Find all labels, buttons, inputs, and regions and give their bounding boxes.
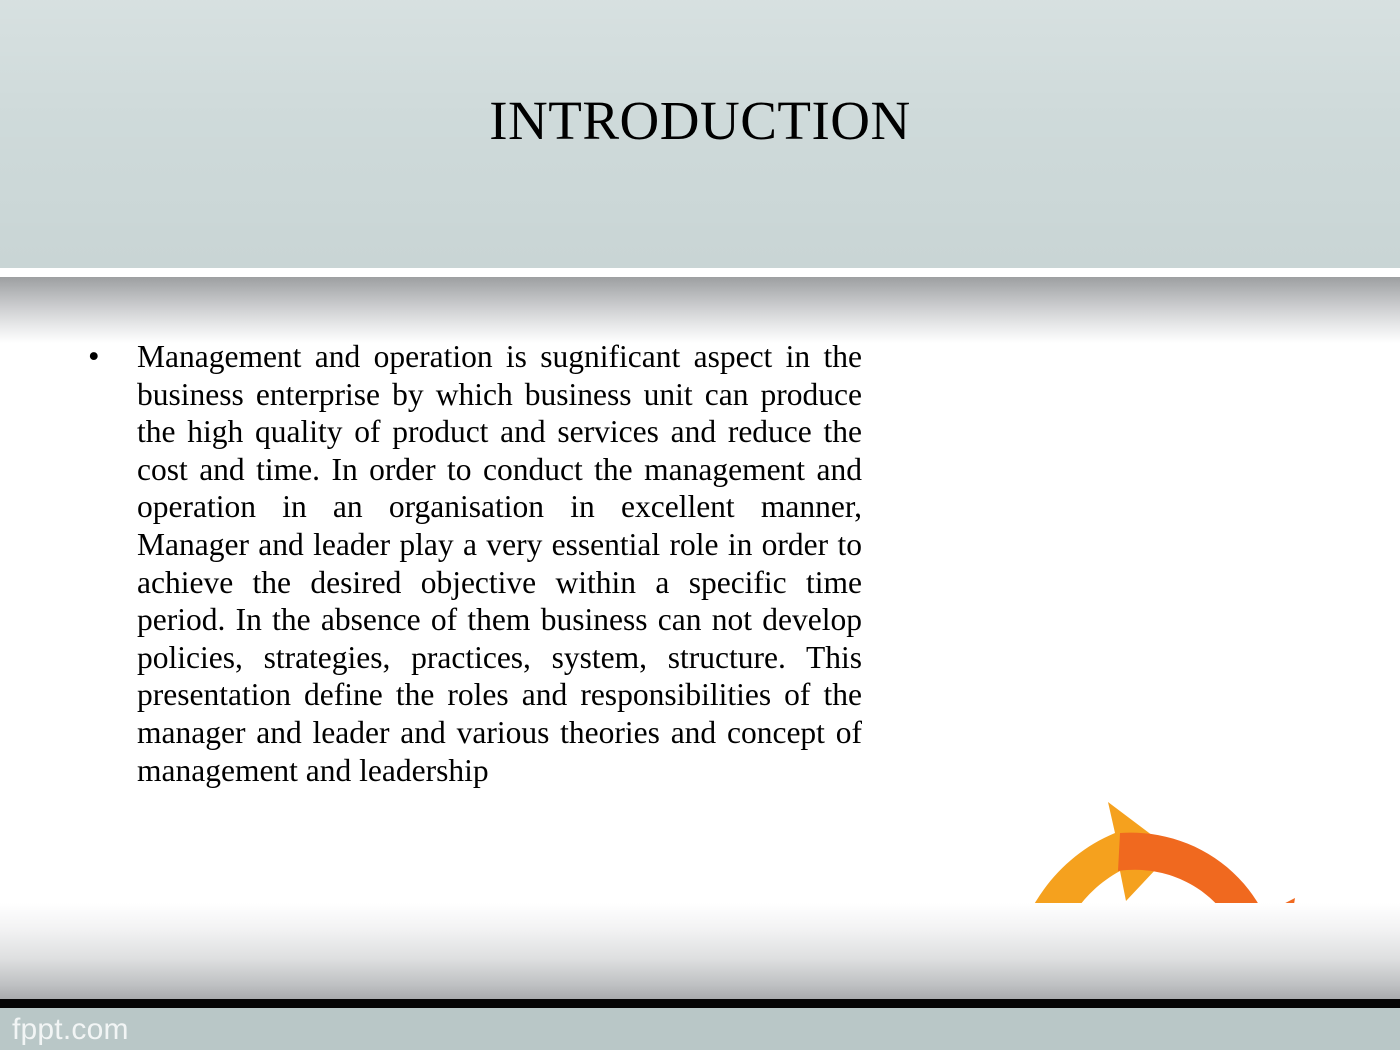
- bullet-item-text: Management and operation is sugnificant …: [137, 338, 862, 789]
- list-item: • Management and operation is sugnifican…: [72, 338, 862, 789]
- slide: INTRODUCTION • Management and operation …: [0, 0, 1400, 1050]
- footer-band: [0, 1008, 1400, 1050]
- footer-divider-rule: [0, 999, 1400, 1008]
- slide-title: INTRODUCTION: [0, 92, 1400, 150]
- slide-content: • Management and operation is sugnifican…: [0, 330, 1400, 905]
- footer-drop-shadow: [0, 903, 1400, 999]
- bullet-list: • Management and operation is sugnifican…: [72, 338, 862, 789]
- bullet-point-icon: •: [72, 338, 137, 376]
- footer-brand-label: fppt.com: [12, 1008, 129, 1050]
- header-separator-line: [0, 268, 1400, 277]
